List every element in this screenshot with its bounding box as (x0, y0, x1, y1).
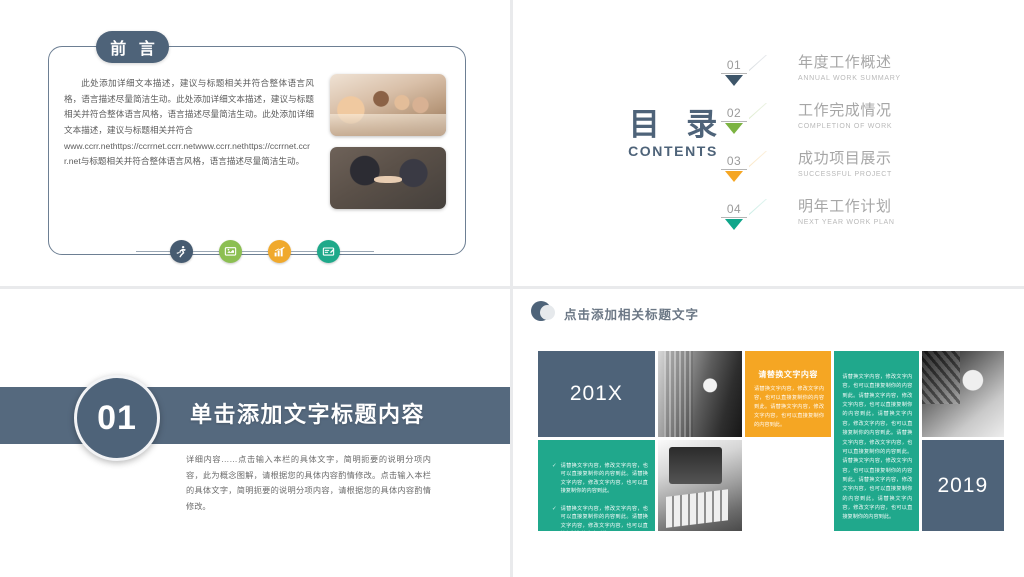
contents-item-triangle-icon (725, 75, 743, 86)
contents-item-text: 明年工作计划 NEXT YEAR WORK PLAN (798, 198, 895, 226)
slide-image-grid[interactable]: 点击添加相关标题文字 201X ✓ 请替换文字内容，修改文字内容，也可以直接复制… (513, 289, 1024, 577)
tall-card-body: 请替换文字内容，修改文字内容，也可以直接复制你的内容到此。请替换文字内容，修改文… (842, 373, 912, 523)
section-title: 单击添加文字标题内容 (190, 397, 425, 429)
section-body-text: 详细内容……点击输入本栏的具体文字，简明扼要的说明分项内容，此为概念图解，请根据… (186, 452, 431, 514)
contents-item-04[interactable]: 04 明年工作计划 NEXT YEAR WORK PLAN (713, 199, 1013, 247)
contents-item-slash-icon (749, 151, 781, 183)
grid-column-2 (658, 351, 742, 531)
presentation-board-icon[interactable] (219, 240, 242, 263)
photo-imac-desk (658, 440, 742, 531)
contents-item-cn: 年度工作概述 (798, 54, 901, 73)
year-end-card: 2019 (922, 440, 1004, 531)
contents-item-03[interactable]: 03 成功项目展示 SUCCESSFUL PROJECT (713, 151, 1013, 199)
preface-badge: 前 言 (96, 31, 169, 63)
contents-item-underline (721, 121, 747, 122)
contents-item-text: 工作完成情况 COMPLETION OF WORK (798, 102, 892, 130)
grid-column-4: 请替换文字内容，修改文字内容，也可以直接复制你的内容到此。请替换文字内容，修改文… (834, 351, 918, 531)
contents-item-en: ANNUAL WORK SUMMARY (798, 75, 901, 82)
contents-item-number: 02 (721, 106, 747, 120)
grid-header: 点击添加相关标题文字 (531, 301, 699, 325)
contents-item-cn: 工作完成情况 (798, 102, 892, 121)
grid-container: 201X ✓ 请替换文字内容，修改文字内容，也可以直接复制你的内容到此。请替换文… (538, 351, 1004, 531)
contents-item-triangle-icon (725, 123, 743, 134)
preface-photo-meeting (330, 74, 446, 136)
contents-item-02[interactable]: 02 工作完成情况 COMPLETION OF WORK (713, 103, 1013, 151)
orange-card-title: 请替换文字内容 (745, 369, 831, 380)
list-item: ✓ 请替换文字内容，修改文字内容，也可以直接复制你的内容到此。请替换文字内容，修… (552, 505, 648, 531)
preface-link-line: www.ccrr.nethttps://ccrrnet.ccrr.netwww.… (64, 139, 314, 170)
contents-item-cn: 成功项目展示 (798, 150, 892, 169)
check-icon: ✓ (552, 462, 557, 496)
section-number-badge: 01 (74, 375, 160, 461)
preface-photo-handshake (330, 147, 446, 209)
photo-vr-headset (658, 351, 742, 437)
tall-teal-text-card: 请替换文字内容，修改文字内容，也可以直接复制你的内容到此。请替换文字内容，修改文… (834, 351, 918, 531)
orange-card-body: 请替换文字内容，修改文字内容，也可以直接复制你的内容到此。请替换文字内容，修改文… (754, 385, 824, 430)
orange-text-card: 请替换文字内容 请替换文字内容，修改文字内容，也可以直接复制你的内容到此。请替换… (745, 351, 831, 437)
bar-chart-growth-icon[interactable] (268, 240, 291, 263)
contents-item-underline (721, 73, 747, 74)
slide-contents[interactable]: 目 录 CONTENTS 01 年度工作概述 ANNUAL WORK SUMMA… (513, 0, 1024, 286)
year-start-card: 201X (538, 351, 655, 437)
contents-item-en: COMPLETION OF WORK (798, 123, 892, 130)
crescent-dot-icon (531, 301, 555, 325)
grid-column-3: 请替换文字内容 请替换文字内容，修改文字内容，也可以直接复制你的内容到此。请替换… (745, 351, 831, 531)
slide-deck: 前 言 此处添加详细文本描述，建议与标题相关并符合整体语言风格，语言描述尽量简洁… (0, 0, 1024, 577)
contents-item-cn: 明年工作计划 (798, 198, 895, 217)
preface-icon-row (0, 240, 510, 263)
list-item: ✓ 请替换文字内容，修改文字内容，也可以直接复制你的内容到此。请替换文字内容，修… (552, 462, 648, 496)
contents-item-underline (721, 169, 747, 170)
grid-header-title: 点击添加相关标题文字 (564, 304, 699, 323)
slide-preface[interactable]: 前 言 此处添加详细文本描述，建议与标题相关并符合整体语言风格，语言描述尽量简洁… (0, 0, 510, 286)
contents-item-triangle-icon (725, 171, 743, 182)
bullet-list-card: ✓ 请替换文字内容，修改文字内容，也可以直接复制你的内容到此。请替换文字内容，修… (538, 440, 655, 531)
photo-woman-working (922, 351, 1004, 437)
list-item-text: 请替换文字内容，修改文字内容，也可以直接复制你的内容到此。请替换文字内容，修改文… (561, 505, 648, 531)
contents-item-en: NEXT YEAR WORK PLAN (798, 219, 895, 226)
contents-item-text: 年度工作概述 ANNUAL WORK SUMMARY (798, 54, 901, 82)
contents-item-slash-icon (749, 103, 781, 135)
contents-item-01[interactable]: 01 年度工作概述 ANNUAL WORK SUMMARY (713, 55, 1013, 103)
grid-column-1: 201X ✓ 请替换文字内容，修改文字内容，也可以直接复制你的内容到此。请替换文… (538, 351, 655, 531)
slide-section-divider[interactable]: 01 单击添加文字标题内容 详细内容……点击输入本栏的具体文字，简明扼要的说明分… (0, 289, 510, 577)
contents-item-en: SUCCESSFUL PROJECT (798, 171, 892, 178)
running-person-icon[interactable] (170, 240, 193, 263)
document-edit-icon[interactable] (317, 240, 340, 263)
contents-item-number: 04 (721, 202, 747, 216)
contents-item-triangle-icon (725, 219, 743, 230)
contents-item-text: 成功项目展示 SUCCESSFUL PROJECT (798, 150, 892, 178)
list-item-text: 请替换文字内容，修改文字内容，也可以直接复制你的内容到此。请替换文字内容，修改文… (561, 462, 648, 496)
contents-list: 01 年度工作概述 ANNUAL WORK SUMMARY 02 工作完成情况 … (713, 55, 1013, 247)
contents-item-underline (721, 217, 747, 218)
contents-item-slash-icon (749, 55, 781, 87)
contents-item-slash-icon (749, 199, 781, 231)
grid-column-5: 2019 (922, 351, 1004, 531)
contents-item-number: 03 (721, 154, 747, 168)
preface-paragraph-text: 此处添加详细文本描述，建议与标题相关并符合整体语言风格，语言描述尽量简洁生动。此… (64, 78, 314, 135)
preface-paragraph: 此处添加详细文本描述，建议与标题相关并符合整体语言风格，语言描述尽量简洁生动。此… (64, 76, 314, 170)
check-icon: ✓ (552, 505, 557, 531)
contents-item-number: 01 (721, 58, 747, 72)
